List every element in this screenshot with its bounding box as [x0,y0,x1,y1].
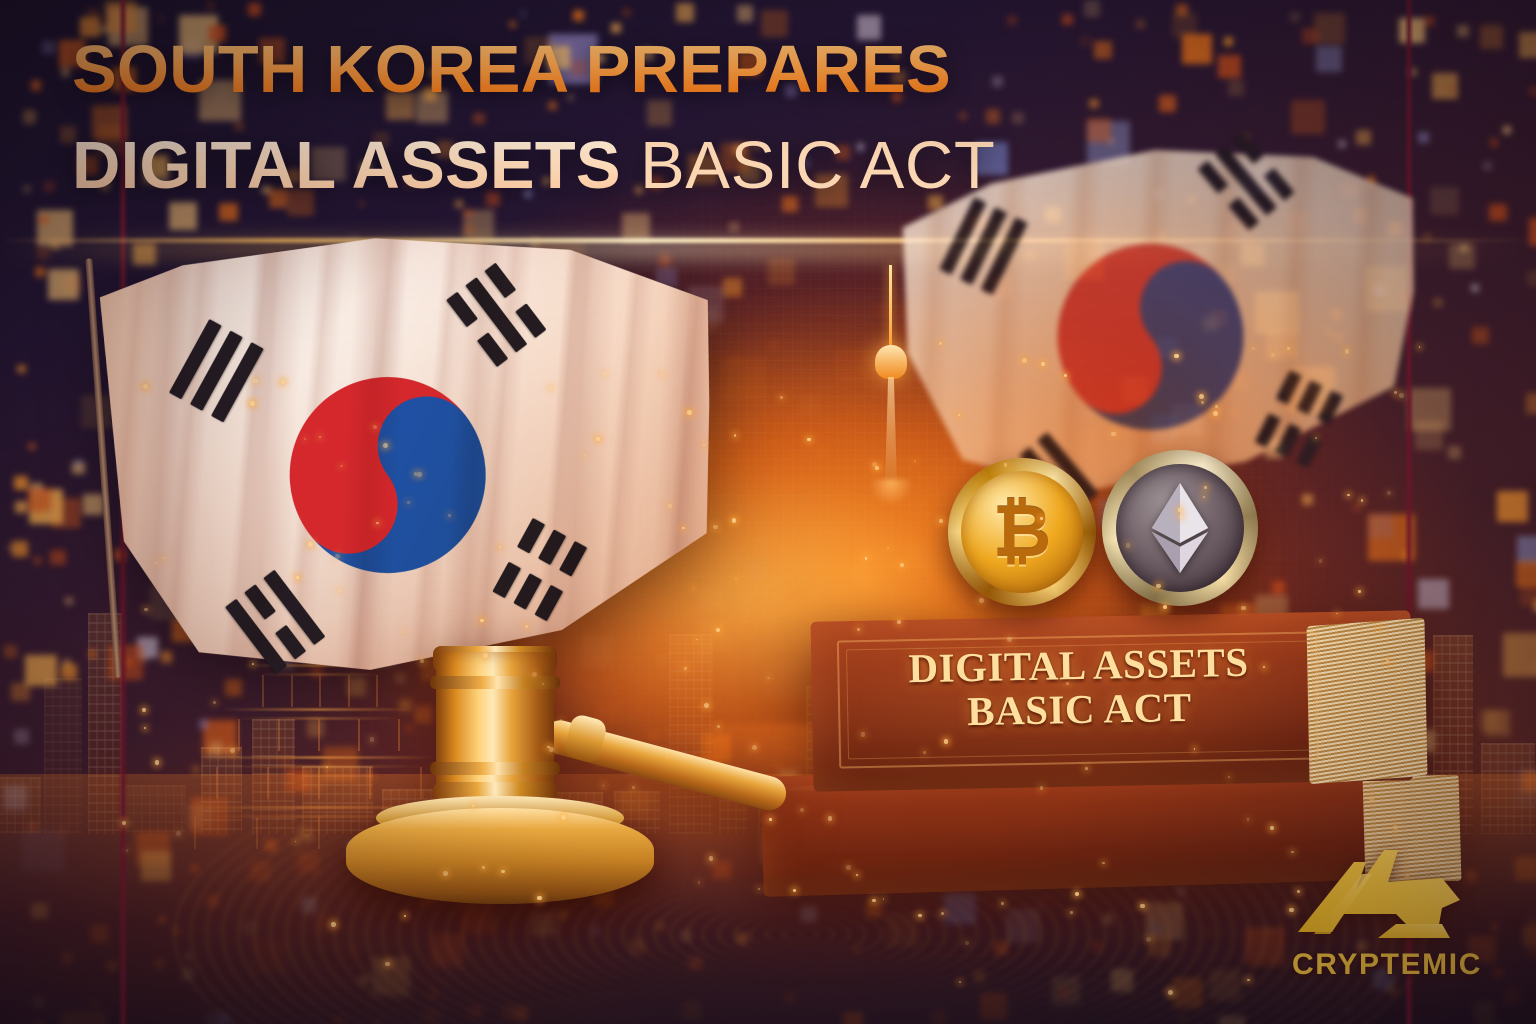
headline-line-1: SOUTH KOREA PREPARES [72,36,1132,103]
bitcoin-coin: ₿ [948,458,1096,606]
poster-canvas: DIGITAL ASSETS BASIC ACT ₿ [0,0,1536,1024]
cryptemic-logo[interactable]: CRYPTEMIC [1262,838,1512,1000]
judge-gavel-icon [300,630,780,920]
headline-line-2: DIGITAL ASSETS BASIC ACT [72,132,1132,199]
logo-wordmark: CRYPTEMIC [1262,948,1512,982]
bitcoin-symbol-icon: ₿ [993,496,1052,568]
ethereum-symbol-icon [1149,481,1211,575]
headline-line-2-light: BASIC ACT [621,128,996,203]
headline-block: SOUTH KOREA PREPARES DIGITAL ASSETS BASI… [72,36,1132,199]
ethereum-coin [1102,450,1258,606]
book-top-page-edges [1307,618,1428,784]
book-cover-title: DIGITAL ASSETS BASIC ACT [843,639,1315,737]
book-title-line-1: DIGITAL ASSETS [843,639,1314,691]
south-korea-flag [97,214,733,687]
book-title-line-2: BASIC ACT [844,683,1315,738]
headline-line-2-bold: DIGITAL ASSETS [72,128,621,203]
bull-arrow-icon [1292,838,1482,956]
